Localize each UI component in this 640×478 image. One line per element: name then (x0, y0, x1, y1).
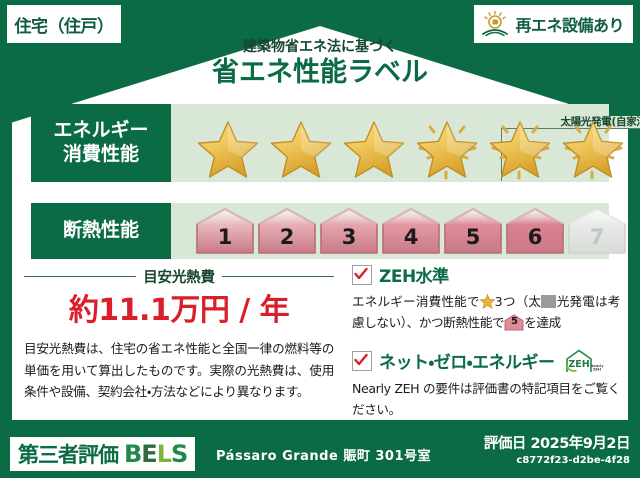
inline-insulation-badge-value: 5 (504, 314, 524, 331)
utility-cost-amount: 約11.1万円 / 年 (24, 294, 334, 327)
star-icon (266, 114, 338, 180)
zeh-net-zero-body: Nearly ZEH の要件は評価書の特記項目をご覧ください。 (352, 379, 620, 421)
zeh-body-text-4: を達成 (524, 315, 561, 330)
energy-consumption-label: エネルギー 消費性能 (31, 104, 171, 182)
insulation-level-value: 2 (257, 225, 317, 249)
sun-solar-icon (480, 10, 510, 38)
solar-star-icon (558, 114, 630, 180)
energy-star-rating (193, 114, 599, 180)
zeh-standard-title: ZEH水準 (379, 262, 449, 287)
evaluation-info: 評価日 2025年9月2日 c8772f23-d2be-4f28 (484, 436, 630, 466)
bels-letter-e: E (141, 440, 156, 468)
energy-label-line2: 消費性能 (63, 143, 139, 167)
evaluation-id: c8772f23-d2be-4f28 (484, 455, 630, 466)
energy-consumption-row: エネルギー 消費性能 太陽光発電(自家消費)分 (31, 104, 609, 182)
svg-text:ZEH: ZEH (568, 359, 589, 370)
insulation-level-scale: 1 2 (195, 207, 627, 255)
zeh-body-text-2: 3つ（太 (495, 294, 541, 309)
insulation-rating-area: 1 2 (171, 203, 609, 259)
bels-logo: 第三者評価 BELS (10, 437, 195, 471)
insulation-level-badge: 7 (567, 207, 627, 255)
utility-cost-note: 目安光熱費は、住宅の省エネ性能と全国一律の燃料等の単価を用いて算出したものです。… (24, 338, 334, 403)
dwelling-type-badge: 住宅（住戸） (6, 4, 122, 44)
bels-en-text: BELS (124, 440, 187, 468)
evaluation-date: 評価日 2025年9月2日 (484, 436, 630, 453)
energy-label-line1: エネルギー (53, 119, 148, 143)
energy-rating-area: 太陽光発電(自家消費)分 (171, 104, 609, 182)
insulation-performance-label: 断熱性能 (31, 203, 171, 259)
star-icon (193, 114, 265, 180)
insulation-level-value: 5 (443, 225, 503, 249)
bels-letter-l: L (157, 440, 171, 468)
insulation-level-value: 3 (319, 225, 379, 249)
utility-cost-heading: 目安光熱費 (24, 266, 334, 287)
insulation-level-value: 6 (505, 225, 565, 249)
zeh-net-zero-heading: ネット・ゼロ・エネルギー ZEH Nearly ZEH (352, 348, 620, 374)
star-icon (339, 114, 411, 180)
bels-letter-s: S (171, 440, 187, 468)
bels-letter-b: B (124, 440, 141, 468)
zeh-column: ZEH水準 エネルギー消費性能で 3つ（太光発電は考慮しない）、かつ断熱性能で … (352, 262, 620, 435)
insulation-level-badge: 4 (381, 207, 441, 255)
svg-text:ZEH: ZEH (593, 367, 601, 371)
insulation-level-badge: 1 (195, 207, 255, 255)
inline-star-icon (480, 294, 495, 309)
heading-rule-right (222, 276, 334, 278)
insulation-level-value: 1 (195, 225, 255, 249)
property-name: Pássaro Grande 賑町 301号室 (216, 430, 431, 478)
zeh-standard-checkbox (352, 265, 372, 285)
insulation-level-badge: 3 (319, 207, 379, 255)
zeh-standard-block: ZEH水準 エネルギー消費性能で 3つ（太光発電は考慮しない）、かつ断熱性能で … (352, 262, 620, 334)
bels-jp-text: 第三者評価 (18, 439, 118, 469)
insulation-label-text: 断熱性能 (63, 219, 139, 243)
label-title-main: 省エネ性能ラベル (0, 58, 640, 88)
label-title-block: 建築物省エネ法に基づく 省エネ性能ラベル (0, 40, 640, 88)
zeh-standard-body: エネルギー消費性能で 3つ（太光発電は考慮しない）、かつ断熱性能で 5 を達成 (352, 292, 620, 334)
utility-cost-heading-text: 目安光熱費 (143, 266, 215, 287)
heading-rule-left (24, 276, 136, 278)
zeh-logo-icon: ZEH Nearly ZEH (564, 348, 604, 374)
utility-cost-column: 目安光熱費 約11.1万円 / 年 目安光熱費は、住宅の省エネ性能と全国一律の燃… (24, 266, 334, 403)
insulation-performance-row: 断熱性能 1 (31, 203, 609, 259)
zeh-net-zero-checkbox (352, 351, 372, 371)
energy-performance-label: 住宅（住戸） 再エネ設備あり 建築物省エネ法に基づく 省エネ性能ラベル (0, 0, 640, 478)
insulation-level-value: 7 (567, 225, 627, 249)
insulation-level-badge: 6 (505, 207, 565, 255)
renewable-equipment-label: 再エネ設備あり (515, 12, 624, 36)
insulation-level-value: 4 (381, 225, 441, 249)
zeh-standard-heading: ZEH水準 (352, 262, 620, 287)
insulation-level-badge: 5 (443, 207, 503, 255)
zeh-net-zero-block: ネット・ゼロ・エネルギー ZEH Nearly ZEH Nearly ZEH の… (352, 348, 620, 421)
dwelling-type-label: 住宅（住戸） (15, 12, 114, 37)
solar-star-icon (485, 114, 557, 180)
label-footer: 第三者評価 BELS Pássaro Grande 賑町 301号室 評価日 2… (0, 430, 640, 478)
label-title-sub: 建築物省エネ法に基づく (0, 40, 640, 55)
inline-insulation-badge: 5 (504, 314, 524, 331)
insulation-level-badge: 2 (257, 207, 317, 255)
solar-star-icon (412, 114, 484, 180)
zeh-net-zero-title: ネット・ゼロ・エネルギー (379, 348, 555, 373)
renewable-equipment-badge: 再エネ設備あり (473, 4, 634, 44)
zeh-body-text-1: エネルギー消費性能で (352, 294, 480, 309)
redacted-text-block (541, 295, 556, 308)
